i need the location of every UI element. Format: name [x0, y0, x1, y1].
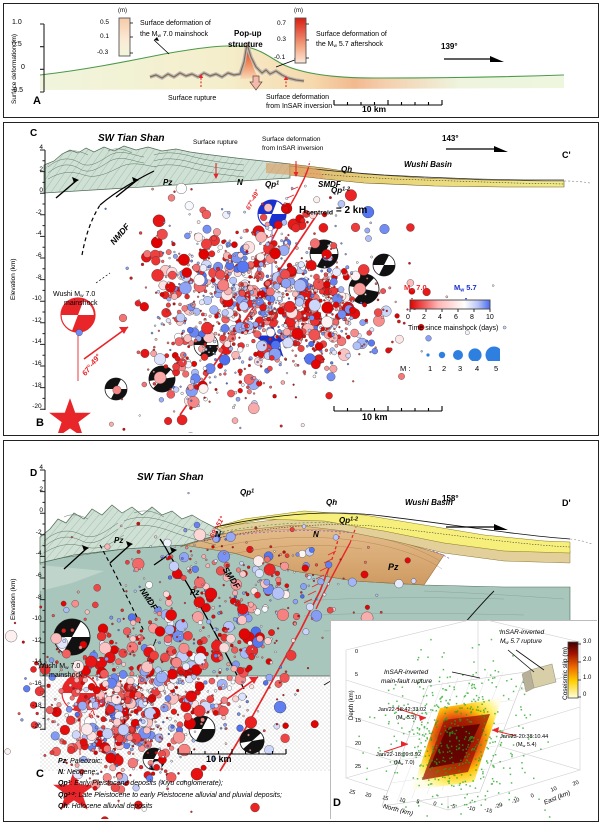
aftershock-marker — [257, 267, 261, 271]
aftershock-marker — [240, 571, 246, 577]
aftershock-marker — [184, 529, 188, 533]
aftershock-marker — [230, 331, 234, 335]
aftershock-marker — [134, 696, 137, 699]
relocated-aftershock — [549, 816, 551, 818]
aftershock-marker — [395, 301, 397, 303]
aftershock-marker — [361, 345, 363, 347]
aftershock-marker — [337, 295, 339, 297]
relocated-aftershock — [449, 676, 451, 678]
aftershock-marker — [248, 602, 253, 607]
panel-d-event3-label-1: Jan/23-20:38:10.44 — [500, 734, 548, 740]
aftershock-marker — [185, 294, 190, 299]
aftershock-marker — [161, 260, 164, 263]
aftershock-marker — [194, 313, 196, 315]
aftershock-marker — [351, 223, 360, 232]
aftershock-marker — [121, 687, 123, 689]
key-desc: : Holocene alluvial deposits — [68, 803, 153, 810]
aftershock-marker — [251, 276, 253, 278]
aftershock-marker — [236, 397, 240, 401]
aftershock-marker — [247, 271, 250, 274]
relocated-aftershock — [446, 731, 448, 733]
aftershock-marker — [257, 289, 260, 292]
relocated-aftershock — [494, 677, 496, 679]
aftershock-marker — [189, 571, 192, 574]
relocated-aftershock — [475, 746, 477, 748]
aftershock-marker — [167, 669, 177, 679]
relocated-aftershock — [479, 757, 481, 759]
aftershock-marker — [260, 579, 262, 581]
relocated-aftershock — [425, 733, 427, 735]
relocated-aftershock — [449, 750, 451, 752]
aftershock-marker — [60, 652, 62, 654]
aftershock-marker — [319, 289, 324, 294]
aftershock-marker — [208, 257, 210, 259]
aftershock-marker — [339, 326, 341, 328]
aftershock-marker — [281, 381, 285, 385]
aftershock-marker — [292, 350, 294, 352]
aftershock-marker — [277, 609, 289, 621]
relocated-aftershock — [402, 687, 404, 689]
aftershock-marker — [141, 263, 144, 266]
aftershock-marker — [276, 723, 278, 725]
aftershock-marker — [176, 313, 185, 322]
relocated-aftershock — [483, 701, 485, 703]
aftershock-marker — [66, 706, 72, 712]
relocated-aftershock — [503, 695, 505, 697]
depth-tick: 25 — [355, 764, 361, 770]
aftershock-marker — [204, 343, 207, 346]
aftershock-marker — [264, 638, 271, 645]
aftershock-marker — [298, 345, 305, 352]
key-row: Qp1: Early Pleistocene deposits (Xiyu co… — [58, 778, 282, 790]
aftershock-marker — [129, 633, 131, 635]
aftershock-marker — [187, 327, 193, 333]
aftershock-marker — [243, 256, 248, 261]
panel-a-ytick-0: 1.0 — [12, 19, 22, 26]
aftershock-marker — [89, 700, 91, 702]
aftershock-marker — [280, 425, 283, 428]
aftershock-marker — [270, 545, 272, 547]
aftershock-marker — [332, 258, 334, 260]
key-term: Qp1-2 — [58, 792, 75, 799]
panel-a-cb2-caption2: the Mw 5.7 aftershock — [316, 41, 383, 49]
aftershock-marker — [62, 629, 66, 633]
relocated-aftershock — [526, 717, 528, 719]
aftershock-marker — [266, 242, 270, 246]
relocated-aftershock — [449, 685, 451, 687]
aftershock-marker — [168, 733, 170, 735]
aftershock-marker — [274, 642, 276, 644]
aftershock-marker — [292, 291, 298, 297]
aftershock-marker — [254, 288, 256, 290]
aftershock-marker — [202, 663, 204, 665]
relocated-aftershock — [448, 775, 450, 777]
aftershock-marker — [268, 686, 270, 688]
aftershock-marker — [321, 360, 324, 363]
aftershock-marker — [152, 269, 164, 281]
panel-c-unit-pz-left: Pz — [114, 536, 123, 545]
relocated-aftershock — [419, 738, 421, 740]
panel-a-cb1-tick-2: -0.3 — [97, 49, 108, 56]
aftershock-marker — [279, 666, 282, 669]
aftershock-marker — [174, 546, 176, 548]
aftershock-marker — [301, 323, 304, 326]
relocated-aftershock — [432, 749, 434, 751]
aftershock-marker — [226, 383, 228, 385]
aftershock-marker — [221, 324, 229, 332]
aftershock-marker — [308, 585, 310, 587]
aftershock-marker — [161, 738, 163, 740]
aftershock-marker — [88, 744, 91, 747]
relocated-aftershock — [469, 785, 471, 787]
aftershock-marker — [341, 296, 343, 298]
aftershock-marker — [244, 368, 246, 370]
aftershock-marker — [190, 550, 192, 552]
aftershock-marker — [185, 676, 187, 678]
aftershock-marker — [118, 629, 120, 631]
aftershock-marker — [132, 745, 134, 747]
aftershock-marker — [208, 351, 210, 353]
relocated-aftershock — [418, 657, 420, 659]
aftershock-marker — [5, 749, 11, 755]
panel-c-unit-pz-right: Pz — [388, 562, 399, 572]
aftershock-marker — [209, 678, 215, 684]
panel-b-unit-n: N — [237, 178, 243, 187]
aftershock-marker — [126, 267, 129, 270]
aftershock-marker — [314, 197, 320, 203]
aftershock-marker — [174, 387, 179, 392]
aftershock-marker — [216, 392, 218, 394]
relocated-aftershock — [474, 687, 476, 689]
aftershock-marker — [174, 720, 176, 722]
relocated-aftershock — [448, 747, 450, 749]
relocated-aftershock — [451, 723, 453, 725]
aftershock-marker — [149, 662, 151, 664]
aftershock-marker — [203, 296, 212, 305]
relocated-aftershock — [483, 730, 485, 732]
relocated-aftershock — [445, 700, 447, 702]
panel-b-legend-aftershock-tag: Mw 5.7 — [454, 283, 477, 293]
aftershock-marker — [194, 705, 206, 717]
aftershock-marker — [85, 656, 97, 668]
aftershock-marker — [172, 363, 179, 370]
aftershock-marker — [261, 203, 264, 206]
aftershock-marker — [204, 668, 206, 670]
aftershock-marker — [143, 727, 150, 734]
aftershock-marker — [182, 305, 188, 311]
aftershock-marker — [143, 577, 145, 579]
aftershock-marker — [329, 196, 332, 199]
aftershock-marker — [295, 396, 297, 398]
relocated-aftershock — [440, 733, 442, 735]
aftershock-marker — [192, 303, 194, 305]
aftershock-marker — [306, 603, 313, 610]
aftershock-marker — [214, 353, 216, 355]
aftershock-marker — [153, 687, 156, 690]
relocated-aftershock — [523, 682, 525, 684]
aftershock-marker — [283, 723, 289, 729]
aftershock-marker — [213, 710, 218, 715]
aftershock-marker — [274, 221, 282, 229]
aftershock-marker — [295, 307, 297, 309]
key-row: Qp1-2: Late Pleistocene to early Pleisto… — [58, 790, 282, 802]
aftershock-marker — [234, 597, 236, 599]
aftershock-marker — [270, 248, 281, 259]
aftershock-marker — [72, 600, 79, 607]
aftershock-marker — [345, 327, 348, 330]
relocated-aftershock — [429, 732, 431, 734]
aftershock-marker — [248, 314, 251, 317]
aftershock-marker — [336, 266, 338, 268]
relocated-aftershock — [482, 773, 484, 775]
relocated-aftershock — [454, 723, 456, 725]
relocated-aftershock — [501, 742, 503, 744]
aftershock-marker — [280, 362, 282, 364]
aftershock-marker — [155, 618, 158, 621]
aftershock-marker — [283, 337, 294, 348]
aftershock-marker — [171, 607, 173, 609]
panel-c-unit-qp1: Qp1 — [240, 488, 254, 497]
aftershock-marker — [85, 610, 90, 615]
aftershock-marker — [159, 397, 164, 402]
aftershock-marker — [360, 302, 362, 304]
aftershock-marker — [80, 688, 82, 690]
aftershock-marker — [136, 726, 138, 728]
aftershock-marker — [159, 729, 161, 731]
aftershock-marker — [224, 723, 227, 726]
aftershock-marker — [292, 224, 300, 232]
aftershock-marker — [101, 725, 105, 729]
aftershock-marker — [254, 308, 256, 310]
relocated-aftershock — [369, 716, 371, 718]
aftershock-marker — [194, 577, 205, 588]
aftershock-marker — [243, 273, 245, 275]
aftershock-marker — [181, 702, 191, 712]
aftershock-marker — [284, 241, 287, 244]
aftershock-marker — [177, 274, 179, 276]
aftershock-marker — [218, 656, 223, 661]
aftershock-marker — [105, 657, 109, 661]
relocated-aftershock — [492, 778, 494, 780]
aftershock-marker — [229, 240, 231, 242]
aftershock-marker — [84, 618, 87, 621]
aftershock-marker — [328, 279, 330, 281]
aftershock-marker — [325, 294, 327, 296]
relocated-aftershock — [467, 746, 469, 748]
aftershock-marker — [348, 578, 356, 586]
relocated-aftershock — [456, 696, 458, 698]
relocated-aftershock — [521, 762, 523, 764]
aftershock-marker — [239, 328, 241, 330]
relocated-aftershock — [484, 717, 486, 719]
aftershock-marker — [259, 262, 264, 267]
relocated-aftershock — [451, 753, 453, 755]
aftershock-marker — [184, 233, 190, 239]
aftershock-marker — [130, 620, 136, 626]
aftershock-marker — [277, 296, 281, 300]
aftershock-marker — [270, 234, 272, 236]
aftershock-marker — [132, 558, 144, 570]
panel-a-insar-label-1: Surface deformation — [266, 94, 329, 101]
aftershock-marker — [166, 717, 168, 719]
relocated-aftershock — [495, 754, 497, 756]
aftershock-marker — [213, 670, 216, 673]
relocated-aftershock — [437, 720, 439, 722]
aftershock-marker — [231, 242, 237, 248]
relocated-aftershock — [424, 727, 426, 729]
aftershock-marker — [71, 628, 75, 632]
aftershock-marker — [167, 342, 169, 344]
aftershock-marker — [293, 384, 295, 386]
panel-b-legend-mainshock-tag: Mw 7.0 — [404, 283, 427, 293]
aftershock-marker — [109, 422, 113, 426]
relocated-aftershock — [420, 649, 422, 651]
aftershock-marker — [189, 213, 191, 215]
aftershock-marker — [367, 330, 372, 335]
aftershock-marker — [111, 694, 121, 704]
relocated-aftershock — [443, 757, 445, 759]
aftershock-marker — [224, 552, 226, 554]
relocated-aftershock — [461, 774, 463, 776]
aftershock-marker — [304, 270, 307, 273]
relocated-aftershock — [388, 690, 390, 692]
aftershock-marker — [330, 361, 333, 364]
legend-time-tick: 10 — [486, 314, 494, 321]
aftershock-marker — [237, 615, 246, 624]
aftershock-marker — [296, 247, 299, 250]
panel-a-cb2-caption1: Surface deformation of — [316, 31, 387, 38]
aftershock-marker — [138, 743, 142, 747]
aftershock-marker — [253, 393, 255, 395]
aftershock-marker — [241, 361, 244, 364]
aftershock-marker — [264, 556, 270, 562]
relocated-aftershock — [430, 733, 432, 735]
aftershock-marker — [246, 386, 249, 389]
aftershock-marker — [370, 222, 372, 224]
relocated-aftershock — [445, 730, 447, 732]
aftershock-marker — [295, 355, 297, 357]
panel-a-cb2-tick-2: -0.1 — [274, 54, 285, 61]
aftershock-marker — [274, 283, 280, 289]
aftershock-marker — [264, 564, 276, 576]
relocated-aftershock — [497, 711, 499, 713]
y-tick-marks — [38, 147, 46, 434]
aftershock-marker — [166, 651, 168, 653]
relocated-aftershock — [510, 774, 512, 776]
aftershock-marker — [274, 551, 276, 553]
aftershock-marker — [204, 313, 207, 316]
aftershock-marker — [205, 559, 207, 561]
aftershock-marker — [361, 571, 368, 578]
relocated-aftershock — [522, 768, 524, 770]
relocated-aftershock — [489, 742, 491, 744]
relocated-aftershock — [362, 752, 364, 754]
aftershock-marker — [101, 717, 106, 722]
aftershock-marker — [145, 287, 147, 289]
aftershock-marker — [321, 327, 325, 331]
aftershock-marker — [190, 260, 192, 262]
relocated-aftershock — [427, 764, 429, 766]
aftershock-marker — [111, 623, 113, 625]
aftershock-marker — [214, 358, 217, 361]
aftershock-marker — [220, 335, 226, 341]
aftershock-marker — [267, 317, 271, 321]
aftershock-marker — [145, 682, 147, 684]
relocated-aftershock — [459, 744, 461, 746]
aftershock-marker — [200, 310, 202, 312]
relocated-aftershock — [393, 688, 395, 690]
aftershock-marker — [185, 546, 188, 549]
relocated-aftershock — [451, 757, 453, 759]
relocated-aftershock — [421, 724, 423, 726]
aftershock-marker — [127, 734, 133, 740]
aftershock-marker — [335, 344, 338, 347]
relocated-aftershock — [432, 746, 434, 748]
aftershock-marker — [187, 264, 190, 267]
aftershock-marker — [51, 720, 54, 723]
aftershock-marker — [303, 314, 306, 317]
aftershock-marker — [181, 575, 187, 581]
relocated-aftershock — [464, 738, 466, 740]
relocated-aftershock — [464, 804, 466, 806]
aftershock-marker — [194, 731, 196, 733]
aftershock-marker — [231, 287, 233, 289]
aftershock-marker — [228, 255, 232, 259]
aftershock-marker — [257, 581, 259, 583]
aftershock-marker — [155, 338, 157, 340]
aftershock-marker — [264, 315, 266, 317]
aftershock-marker — [127, 635, 129, 637]
aftershock-marker — [117, 696, 119, 698]
aftershock-marker — [57, 724, 59, 726]
aftershock-marker — [119, 649, 128, 658]
aftershock-marker — [321, 316, 333, 328]
aftershock-marker — [216, 675, 218, 677]
aftershock-marker — [59, 688, 64, 693]
aftershock-marker — [323, 299, 325, 301]
aftershock-marker — [266, 226, 270, 230]
aftershock-marker — [170, 730, 172, 732]
aftershock-marker — [202, 346, 204, 348]
aftershock-marker — [291, 187, 293, 189]
aftershock-marker — [130, 714, 132, 716]
relocated-aftershock — [471, 741, 473, 743]
aftershock-marker — [167, 390, 175, 398]
relocated-aftershock — [424, 746, 426, 748]
relocated-aftershock — [520, 706, 522, 708]
aftershock-marker — [306, 345, 308, 347]
aftershock-marker — [193, 749, 195, 751]
aftershock-marker — [280, 554, 282, 556]
aftershock-marker — [397, 320, 400, 323]
aftershock-marker — [166, 610, 177, 621]
aftershock-marker — [226, 260, 228, 262]
aftershock-marker — [311, 294, 314, 297]
relocated-aftershock — [490, 738, 492, 740]
aftershock-marker — [312, 574, 314, 576]
aftershock-marker — [358, 353, 360, 355]
aftershock-marker — [182, 268, 192, 278]
aftershock-marker — [243, 244, 249, 250]
aftershock-marker — [246, 318, 249, 321]
relocated-aftershock — [474, 748, 476, 750]
aftershock-marker — [322, 249, 332, 259]
aftershock-marker — [306, 221, 308, 223]
aftershock-marker — [324, 366, 329, 371]
relocated-aftershock — [396, 701, 398, 703]
aftershock-marker — [199, 249, 201, 251]
relocated-aftershock — [443, 652, 445, 654]
